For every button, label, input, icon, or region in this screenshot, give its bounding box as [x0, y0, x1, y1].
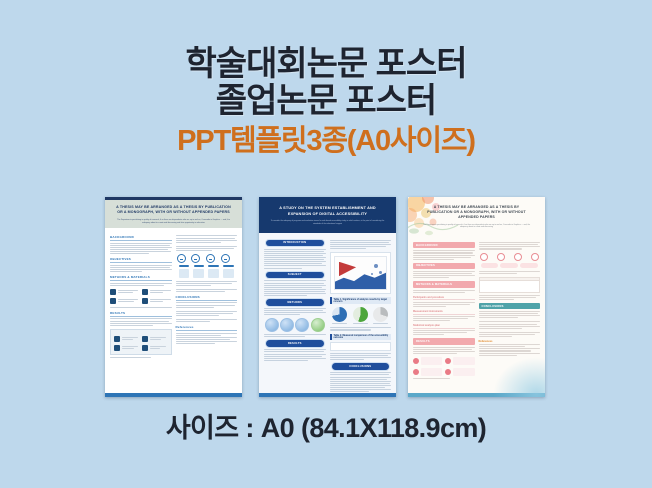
marker-icon — [110, 298, 116, 304]
poster3-col-left: BACKGROUND OBJECTIVES METHODS & MATERIAL… — [413, 239, 475, 380]
poster-thumbnail-3[interactable]: A THESIS MAY BE ARRANGED AS A THESIS BY … — [408, 197, 545, 397]
poster3-data-table — [479, 277, 541, 293]
poster2-col-right: Table 1. Significance of analysis result… — [330, 237, 392, 393]
poster3-section-objectives: OBJECTIVES — [413, 263, 475, 269]
poster3-subhead-2: Measurement instruments — [413, 310, 475, 315]
poster1-section-methods: METHODS & MATERIALS — [110, 275, 172, 281]
poster3-title: A THESIS MAY BE ARRANGED AS A THESIS BY … — [422, 205, 531, 221]
poster1-col-right: CONCLUSIONS References — [176, 232, 238, 358]
poster3-result-icons — [413, 357, 475, 376]
poster3-section-methods: METHODS & MATERIALS — [413, 281, 475, 287]
poster2-subtitle: To consider the adequacy of programs and… — [268, 220, 387, 226]
poster-thumbnail-2[interactable]: A STUDY ON THE SYSTEM ESTABLISHMENT AND … — [259, 197, 396, 397]
flow-node-icon — [206, 254, 215, 263]
poster2-section-subject: SUBJECT — [266, 272, 324, 278]
poster1-flow-diagram — [177, 254, 237, 263]
title-line-1: 학술대회논문 포스터 — [0, 46, 652, 83]
flow-node-icon — [497, 253, 505, 261]
poster3-subtitle: The Department specializing in quality o… — [422, 224, 531, 230]
poster2-columns: INTRODUCTION SUBJECT METHODS — [259, 233, 396, 397]
circle-icon — [311, 318, 325, 332]
poster1-results-figure — [110, 329, 172, 355]
list-item — [142, 289, 171, 295]
poster2-body: INTRODUCTION SUBJECT METHODS — [259, 233, 396, 397]
poster3-subhead-1: Participants and procedure — [413, 296, 475, 301]
poster1-method-icons — [110, 289, 172, 304]
list-item — [142, 298, 171, 304]
flow-node-icon — [480, 253, 488, 261]
pie-chart-c — [373, 307, 388, 326]
chart-icon — [114, 345, 120, 351]
poster2-header: A STUDY ON THE SYSTEM ESTABLISHMENT AND … — [259, 197, 396, 233]
poster1-columns: BACKGROUND OBJECTIVES METHODS & MATERIAL… — [105, 228, 242, 362]
poster2-data-table — [330, 342, 392, 351]
chart-icon — [114, 336, 120, 342]
chart-figure — [334, 256, 388, 290]
flow-node-icon — [177, 254, 186, 263]
pie-icon — [353, 307, 368, 322]
flower-icon — [413, 358, 419, 364]
poster1-section-references: References — [176, 325, 238, 331]
poster2-pie-charts — [330, 307, 392, 326]
poster2-section-introduction: INTRODUCTION — [266, 240, 324, 246]
poster1-section-objectives: OBJECTIVES — [110, 257, 172, 263]
poster3-col-right: CONCLUSIONS References — [479, 239, 541, 380]
marker-icon — [142, 289, 148, 295]
flow-node-icon — [514, 253, 522, 261]
poster2-footer-bar — [259, 393, 396, 397]
subtitle-line: PPT템플릿3종(A0사이즈) — [0, 124, 652, 158]
marker-icon — [110, 289, 116, 295]
list-item — [110, 298, 139, 304]
pie-icon — [373, 307, 388, 322]
title-block: 학술대회논문 포스터 졸업논문 포스터 PPT템플릿3종(A0사이즈) — [0, 46, 652, 158]
poster-thumbnail-1[interactable]: A THESIS MAY BE ARRANGED AS A THESIS BY … — [105, 197, 242, 397]
poster2-col-left: INTRODUCTION SUBJECT METHODS — [264, 237, 326, 393]
flow-node-icon — [531, 253, 539, 261]
poster1-subtitle: The Department specializing in quality o… — [113, 219, 234, 225]
poster3-header: A THESIS MAY BE ARRANGED AS A THESIS BY … — [408, 197, 545, 235]
marker-icon — [142, 298, 148, 304]
list-item — [110, 289, 139, 295]
poster2-section-methods: METHODS — [266, 299, 324, 305]
poster1-title: A THESIS MAY BE ARRANGED AS A THESIS BY … — [113, 205, 234, 216]
poster2-area-chart — [330, 252, 392, 294]
poster2-table-caption-2: Table 2. Measured comparison of the acce… — [330, 334, 392, 341]
chart-icon — [142, 345, 148, 351]
poster3-section-background: BACKGROUND — [413, 242, 475, 248]
poster3-subhead-3: Statistical analysis plan — [413, 324, 475, 329]
flower-icon — [445, 369, 451, 375]
flow-node-icon — [191, 254, 200, 263]
poster1-section-conclusions: CONCLUSIONS — [176, 295, 238, 301]
flower-icon — [413, 369, 419, 375]
poster3-section-references: References — [479, 340, 541, 343]
poster1-header: A THESIS MAY BE ARRANGED AS A THESIS BY … — [105, 200, 242, 228]
poster2-table-caption-1: Table 1. Significance of analysis result… — [330, 297, 392, 304]
title-line-2: 졸업논문 포스터 — [0, 83, 652, 120]
poster2-method-circles — [264, 318, 326, 332]
wedge-shape — [339, 262, 357, 277]
poster2-section-conclusions: CONCLUSIONS — [332, 363, 390, 369]
poster2-section-results: RESULTS — [266, 340, 324, 346]
chart-icon — [142, 336, 148, 342]
poster3-columns: BACKGROUND OBJECTIVES METHODS & MATERIAL… — [408, 235, 545, 384]
poster-gallery: A THESIS MAY BE ARRANGED AS A THESIS BY … — [105, 197, 550, 400]
circle-icon — [280, 318, 294, 332]
circle-icon — [265, 318, 279, 332]
pie-chart-b — [353, 307, 368, 326]
poster1-section-results: RESULTS — [110, 311, 172, 317]
pie-chart-a — [332, 307, 347, 326]
poster3-flow-diagram — [480, 253, 540, 261]
poster3-section-results: RESULTS — [413, 338, 475, 344]
flow-node-icon — [221, 254, 230, 263]
size-caption: 사이즈 : A0 (84.1X118.9cm) — [0, 406, 652, 445]
poster1-col-left: BACKGROUND OBJECTIVES METHODS & MATERIAL… — [110, 232, 172, 358]
poster2-title: A STUDY ON THE SYSTEM ESTABLISHMENT AND … — [268, 206, 387, 217]
flower-icon — [445, 358, 451, 364]
circle-icon — [295, 318, 309, 332]
poster1-section-background: BACKGROUND — [110, 235, 172, 241]
pie-icon — [332, 307, 347, 322]
poster3-section-conclusions: CONCLUSIONS — [479, 303, 541, 309]
poster1-footer-bar — [105, 393, 242, 397]
